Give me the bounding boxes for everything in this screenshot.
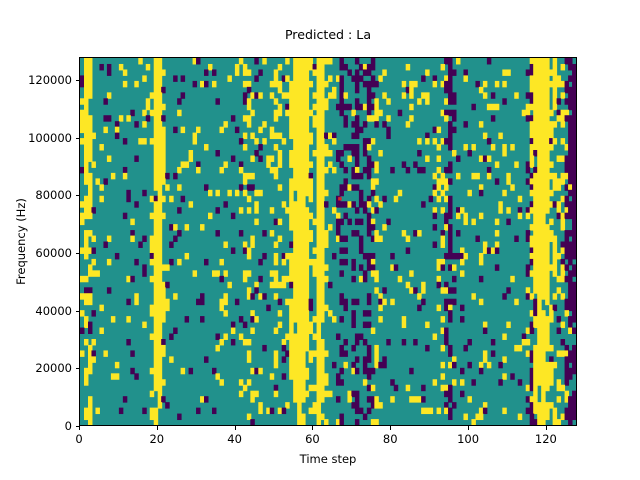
- x-ticklabel-20: 20: [149, 432, 164, 446]
- x-ticklabel-80: 80: [383, 432, 398, 446]
- x-ticklabel-0: 0: [75, 432, 82, 446]
- y-axis-label: Frequency (Hz): [14, 57, 28, 426]
- x-ticklabel-120: 120: [535, 432, 557, 446]
- y-tick-60000: [76, 253, 80, 254]
- y-ticklabel-100000: 100000: [28, 131, 72, 145]
- figure-canvas: Predicted : La 020406080100120 020000400…: [0, 0, 640, 480]
- y-ticklabel-0: 0: [65, 419, 72, 433]
- y-tick-120000: [76, 80, 80, 81]
- x-tick-20: [157, 426, 158, 430]
- x-tick-100: [468, 426, 469, 430]
- x-tick-0: [79, 426, 80, 430]
- y-tick-0: [76, 426, 80, 427]
- y-ticklabel-40000: 40000: [35, 304, 72, 318]
- x-axis-label: Time step: [79, 452, 577, 466]
- spectrogram-heatmap[interactable]: [80, 58, 576, 425]
- x-tick-60: [312, 426, 313, 430]
- x-tick-120: [546, 426, 547, 430]
- x-ticklabel-100: 100: [457, 432, 479, 446]
- x-tick-40: [235, 426, 236, 430]
- x-tick-80: [390, 426, 391, 430]
- y-ticklabel-20000: 20000: [35, 361, 72, 375]
- y-tick-100000: [76, 138, 80, 139]
- y-tick-80000: [76, 195, 80, 196]
- y-ticklabel-60000: 60000: [35, 246, 72, 260]
- x-ticklabel-40: 40: [227, 432, 242, 446]
- y-ticklabel-80000: 80000: [35, 188, 72, 202]
- heatmap-axes[interactable]: [79, 57, 577, 426]
- x-ticklabel-60: 60: [305, 432, 320, 446]
- y-tick-40000: [76, 311, 80, 312]
- y-ticklabel-120000: 120000: [28, 73, 72, 87]
- chart-title: Predicted : La: [79, 27, 577, 43]
- y-tick-20000: [76, 368, 80, 369]
